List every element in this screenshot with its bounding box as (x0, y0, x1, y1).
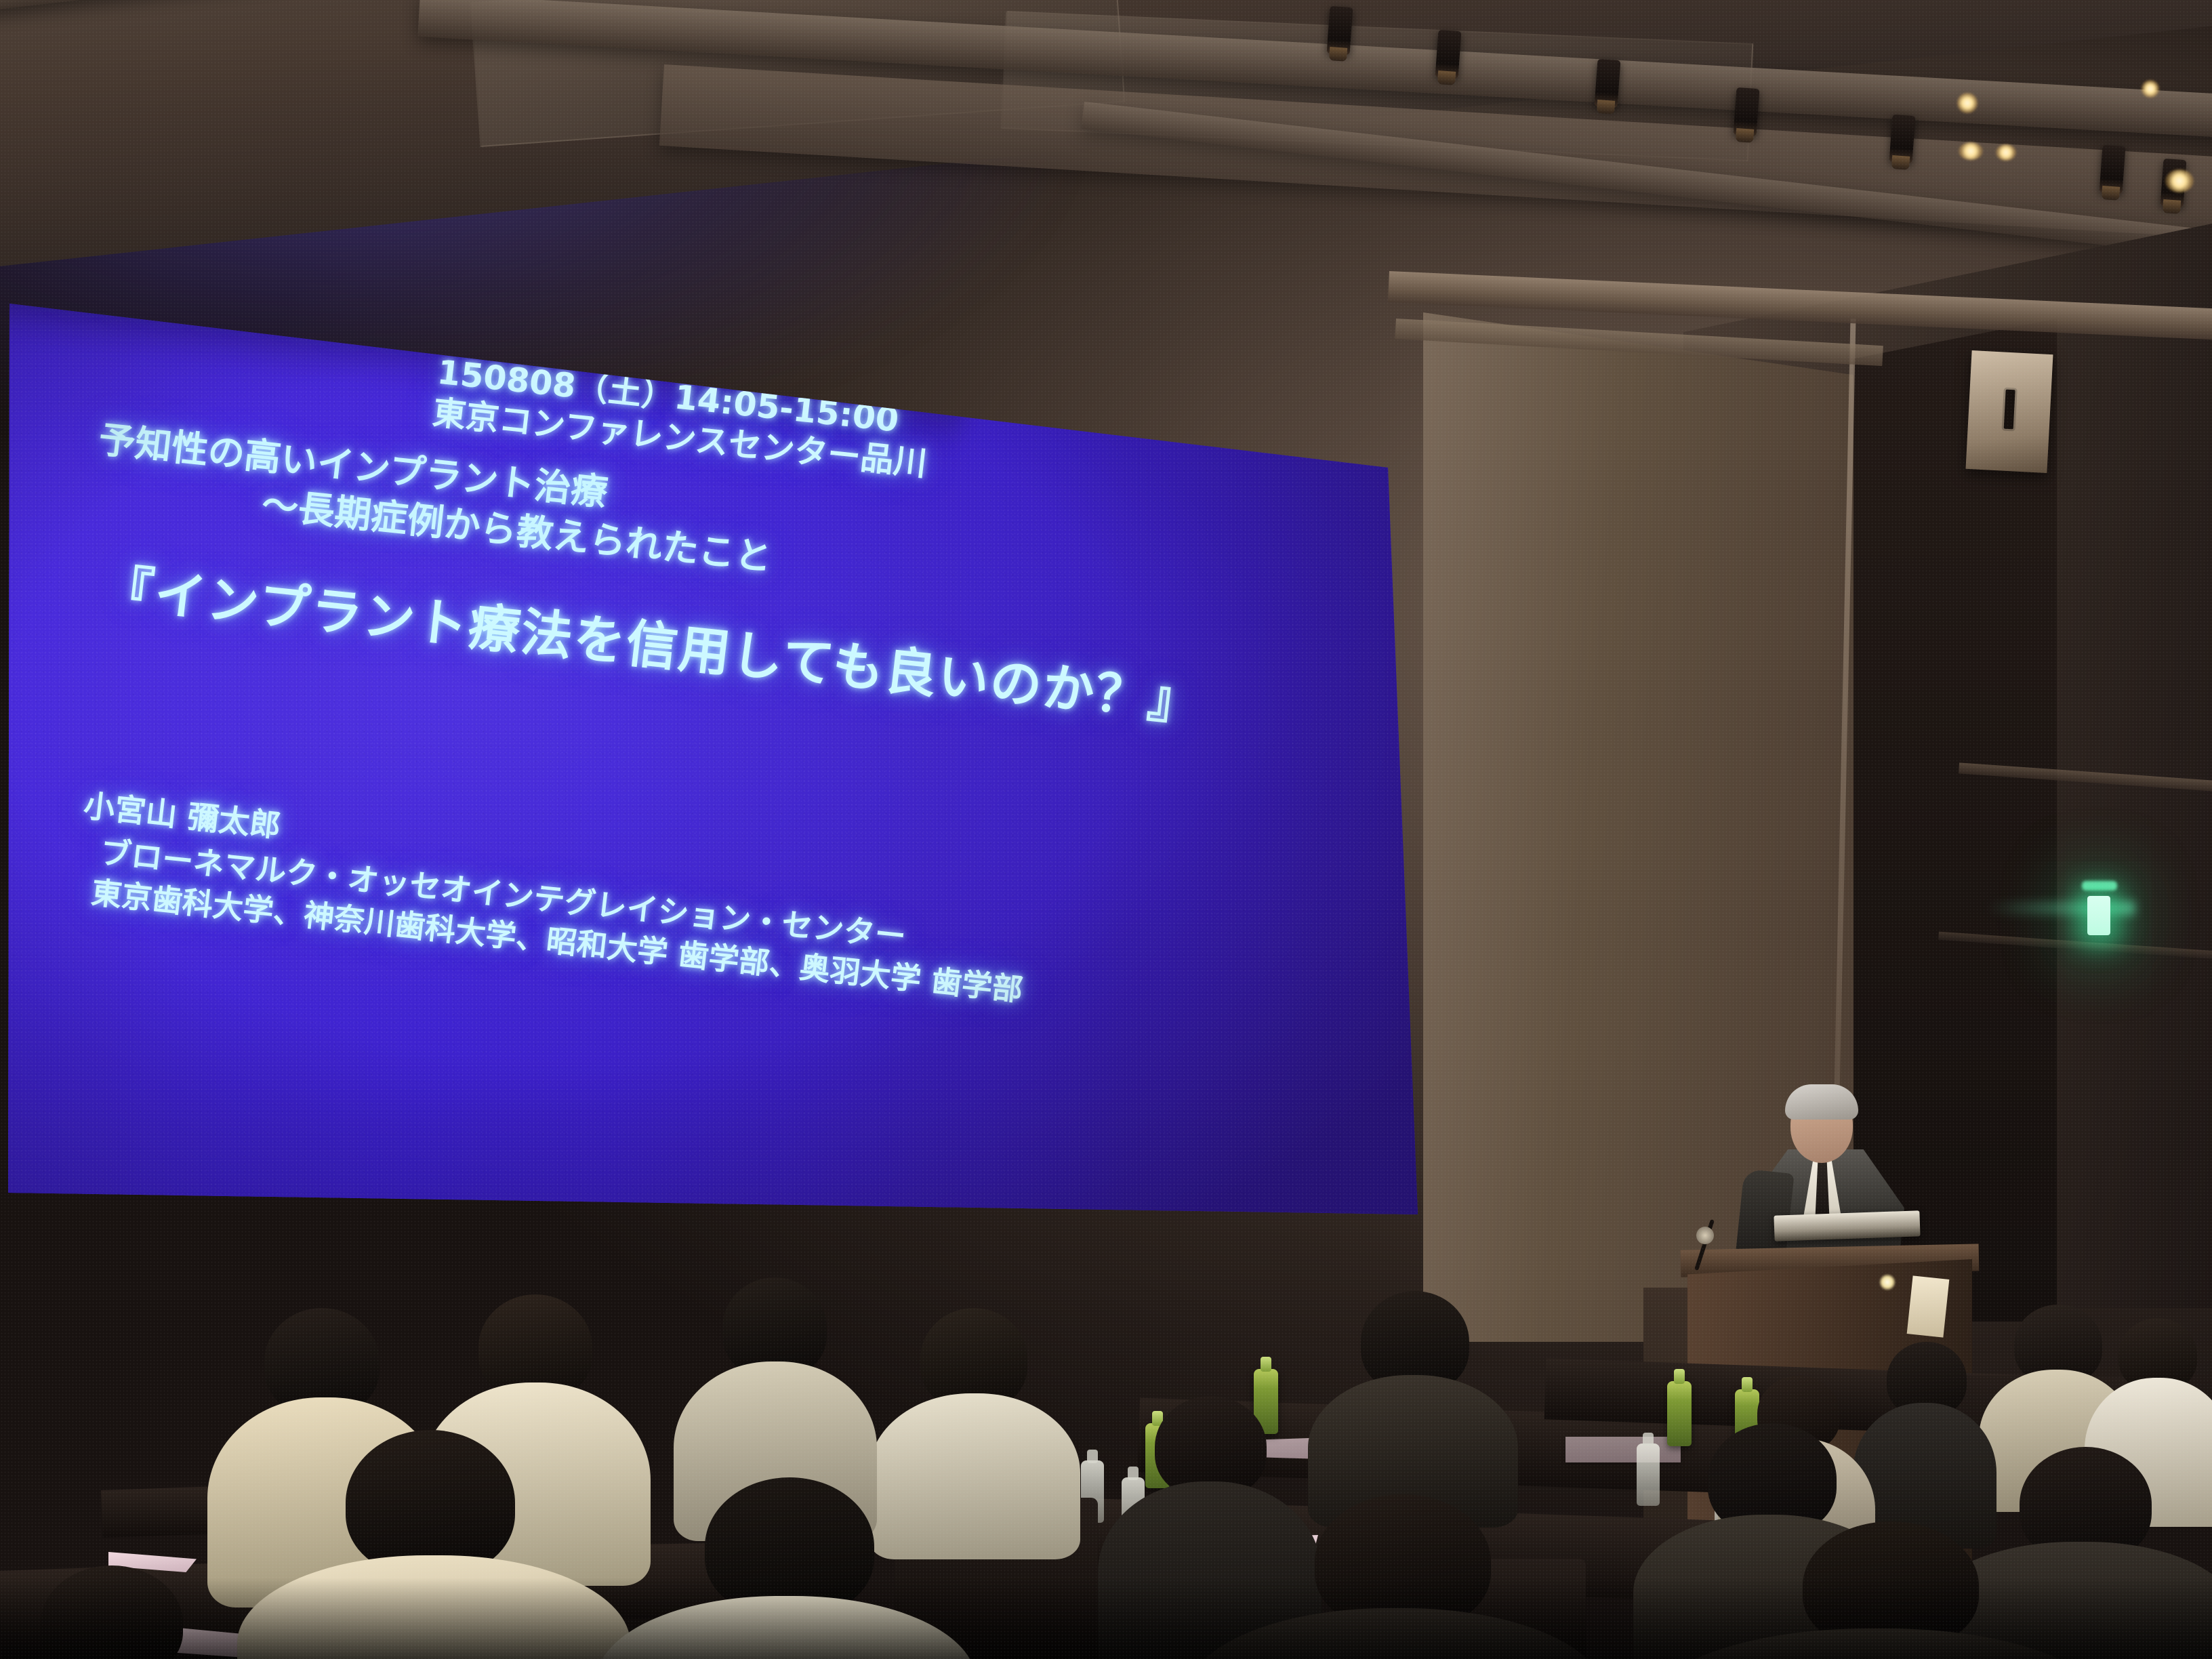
exit-sign-glow (1986, 901, 2135, 915)
ceiling-spotlight-icon (1435, 30, 1462, 79)
audience-shoulders (1186, 1608, 1606, 1659)
lectern-laptop (1774, 1210, 1920, 1241)
audience-shoulders (1647, 1629, 2108, 1659)
ceiling-spotlight-icon (1327, 6, 1353, 55)
ceiling-lamp-glow (1959, 142, 1983, 160)
audience-head (41, 1565, 183, 1659)
audience-head (346, 1430, 515, 1576)
ceiling-spotlight-icon (1734, 87, 1760, 136)
ceiling-lamp-glow (2165, 169, 2194, 192)
ceiling-spotlight-icon (2100, 145, 2126, 194)
presenter-at-lectern (1735, 1084, 1911, 1267)
audience-shoulders (596, 1596, 976, 1659)
exit-sign-housing (2082, 881, 2117, 890)
speaker-grill-icon (2004, 390, 2015, 430)
ceiling-spotlight-icon (1595, 59, 1621, 108)
wall-mounted-loudspeaker (1966, 350, 2053, 473)
audience-member (1315, 1291, 1511, 1515)
lectern-lamp-glow (1879, 1274, 1896, 1290)
ceiling-lamp-glow (2142, 80, 2159, 98)
ceiling-lamp-glow (1996, 144, 2016, 161)
audience-member (0, 1565, 244, 1659)
audience-member (610, 1477, 962, 1659)
audience-shoulders (237, 1555, 630, 1659)
microphone-icon (1696, 1227, 1714, 1244)
conference-hall-photo: Forum on Implant Treatment in Tokyo 1508… (0, 0, 2212, 1659)
presenter-hair (1785, 1084, 1858, 1120)
ceiling-lamp-glow (1957, 93, 1978, 113)
audience-member (258, 1430, 610, 1659)
emergency-exit-light-icon (2087, 896, 2110, 935)
audience-member (1667, 1521, 2087, 1659)
audience-member (1206, 1494, 1586, 1659)
lectern-papers (1907, 1275, 1950, 1337)
ceiling-spotlight-icon (1889, 115, 1916, 163)
